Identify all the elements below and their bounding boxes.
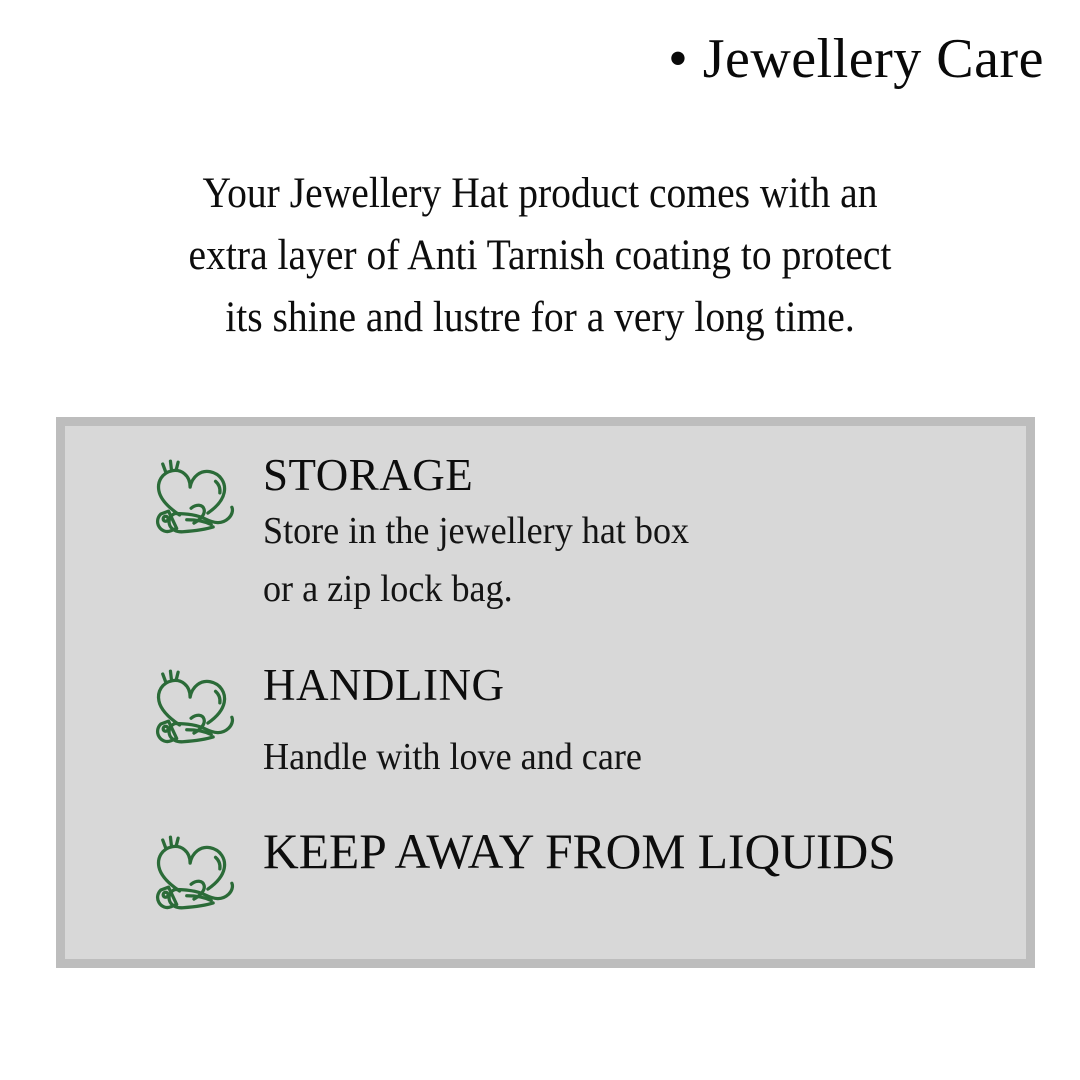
care-heading-keep-away-from-liquids: KEEP AWAY FROM LIQUIDS	[263, 826, 896, 876]
care-desc-line: or a zip lock bag.	[263, 560, 689, 618]
care-desc-line: Store in the jewellery hat box	[263, 502, 689, 560]
care-desc-storage: Store in the jewellery hat box or a zip …	[263, 502, 689, 618]
care-text-storage: STORAGE Store in the jewellery hat box o…	[263, 450, 712, 618]
care-heading-handling: HANDLING	[263, 660, 662, 710]
care-desc-line: Handle with love and care	[263, 728, 642, 786]
heart-in-hand-icon	[145, 664, 241, 760]
page-title-row: • Jewellery Care	[0, 30, 1044, 89]
care-list: STORAGE Store in the jewellery hat box o…	[65, 426, 1026, 959]
care-text-handling: HANDLING Handle with love and care	[263, 660, 662, 786]
care-item-keep-away-from-liquids: KEEP AWAY FROM LIQUIDS	[145, 826, 902, 926]
heart-in-hand-icon	[145, 830, 241, 926]
care-desc-handling: Handle with love and care	[263, 728, 642, 786]
care-text-keep-away-from-liquids: KEEP AWAY FROM LIQUIDS	[263, 826, 902, 876]
care-heading-storage: STORAGE	[263, 450, 712, 500]
heart-in-hand-icon	[145, 454, 241, 550]
care-instructions-panel: STORAGE Store in the jewellery hat box o…	[56, 417, 1035, 968]
intro-line-1: Your Jewellery Hat product comes with an	[98, 163, 981, 225]
intro-paragraph: Your Jewellery Hat product comes with an…	[98, 163, 981, 349]
intro-line-3: its shine and lustre for a very long tim…	[98, 287, 981, 349]
care-item-handling: HANDLING Handle with love and care	[145, 660, 662, 786]
page-title: • Jewellery Care	[668, 30, 1044, 89]
intro-line-2: extra layer of Anti Tarnish coating to p…	[98, 225, 981, 287]
care-item-storage: STORAGE Store in the jewellery hat box o…	[145, 450, 712, 618]
